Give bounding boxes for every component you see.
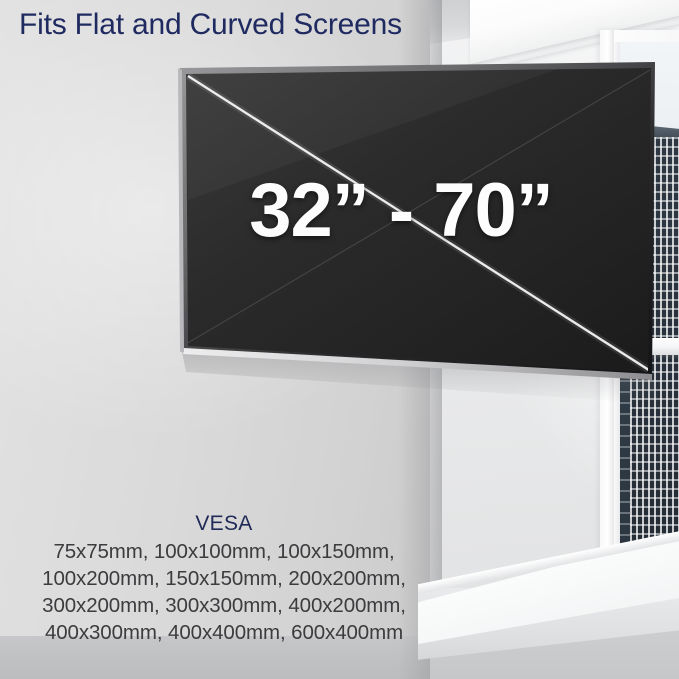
vesa-line: 100x200mm, 150x150mm, 200x200mm, [0,565,448,592]
window-mullion-horizontal [600,338,679,355]
vesa-info-block: VESA 75x75mm, 100x100mm, 100x150mm, 100x… [0,510,448,646]
page-title: Fits Flat and Curved Screens [19,8,402,42]
window-glass [618,42,679,617]
vesa-line: 300x200mm, 300x300mm, 400x200mm, [0,592,448,619]
vesa-line: 400x300mm, 400x400mm, 600x400mm [0,619,448,646]
vesa-heading: VESA [0,510,448,538]
vesa-line: 75x75mm, 100x100mm, 100x150mm, [0,538,448,565]
product-feature-image: 32” - 70” Fits Flat and Curved Screens V… [0,0,679,679]
